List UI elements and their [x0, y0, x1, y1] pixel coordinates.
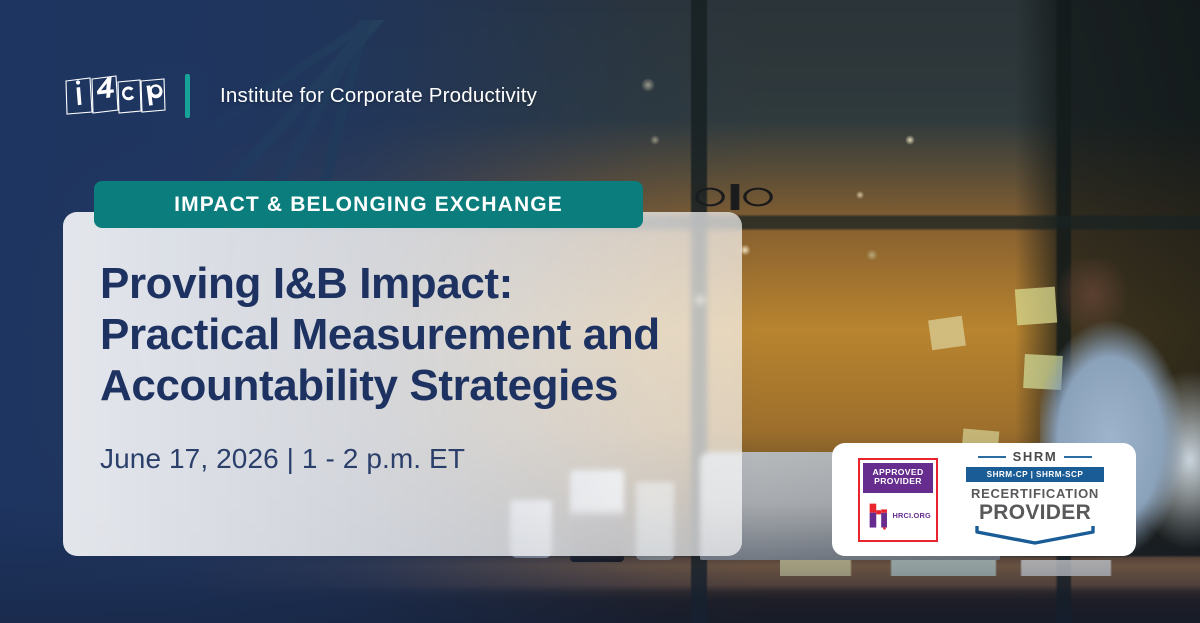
shrm-provider-label: PROVIDER: [960, 501, 1110, 524]
hrci-h-logo-icon: [868, 499, 889, 533]
shrm-rule-left: [978, 456, 1006, 458]
series-badge-label: IMPACT & BELONGING EXCHANGE: [174, 193, 563, 217]
shrm-shield-chevron-icon: [974, 525, 1096, 545]
credential-badges: APPROVED PROVIDER HRCI.ORG SHRM: [832, 443, 1136, 556]
series-badge: IMPACT & BELONGING EXCHANGE: [94, 181, 643, 228]
shrm-certifications-label: SHRM-CP | SHRM-SCP: [966, 467, 1104, 482]
i4cp-logo[interactable]: [63, 72, 167, 120]
brand-divider: [185, 74, 190, 118]
hrci-badge-body: HRCI.ORG: [863, 493, 933, 537]
hrci-badge-header: APPROVED PROVIDER: [863, 463, 933, 493]
title-line-2: Practical Measurement and: [100, 309, 740, 360]
page-title: Proving I&B Impact: Practical Measuremen…: [100, 258, 740, 411]
organization-name: Institute for Corporate Productivity: [220, 84, 537, 108]
hrci-provider-label: PROVIDER: [863, 477, 933, 487]
shrm-name-label: SHRM: [1013, 449, 1058, 464]
shrm-recertification-provider-badge: SHRM SHRM-CP | SHRM-SCP RECERTIFICATION …: [960, 449, 1110, 550]
shrm-rule-right: [1064, 456, 1092, 458]
title-line-3: Accountability Strategies: [100, 360, 740, 411]
shrm-name-row: SHRM: [960, 449, 1110, 464]
shrm-recertification-label: RECERTIFICATION: [960, 486, 1110, 501]
webinar-promo-banner: Institute for Corporate Productivity IMP…: [0, 0, 1200, 623]
brand-header: Institute for Corporate Productivity: [63, 72, 537, 120]
event-datetime: June 17, 2026 | 1 - 2 p.m. ET: [100, 443, 740, 475]
content-card-text: Proving I&B Impact: Practical Measuremen…: [100, 258, 740, 475]
title-line-1: Proving I&B Impact:: [100, 258, 740, 309]
hrci-approved-provider-badge: APPROVED PROVIDER HRCI.ORG: [858, 458, 938, 542]
hrci-org-label: HRCI.ORG: [892, 511, 931, 520]
